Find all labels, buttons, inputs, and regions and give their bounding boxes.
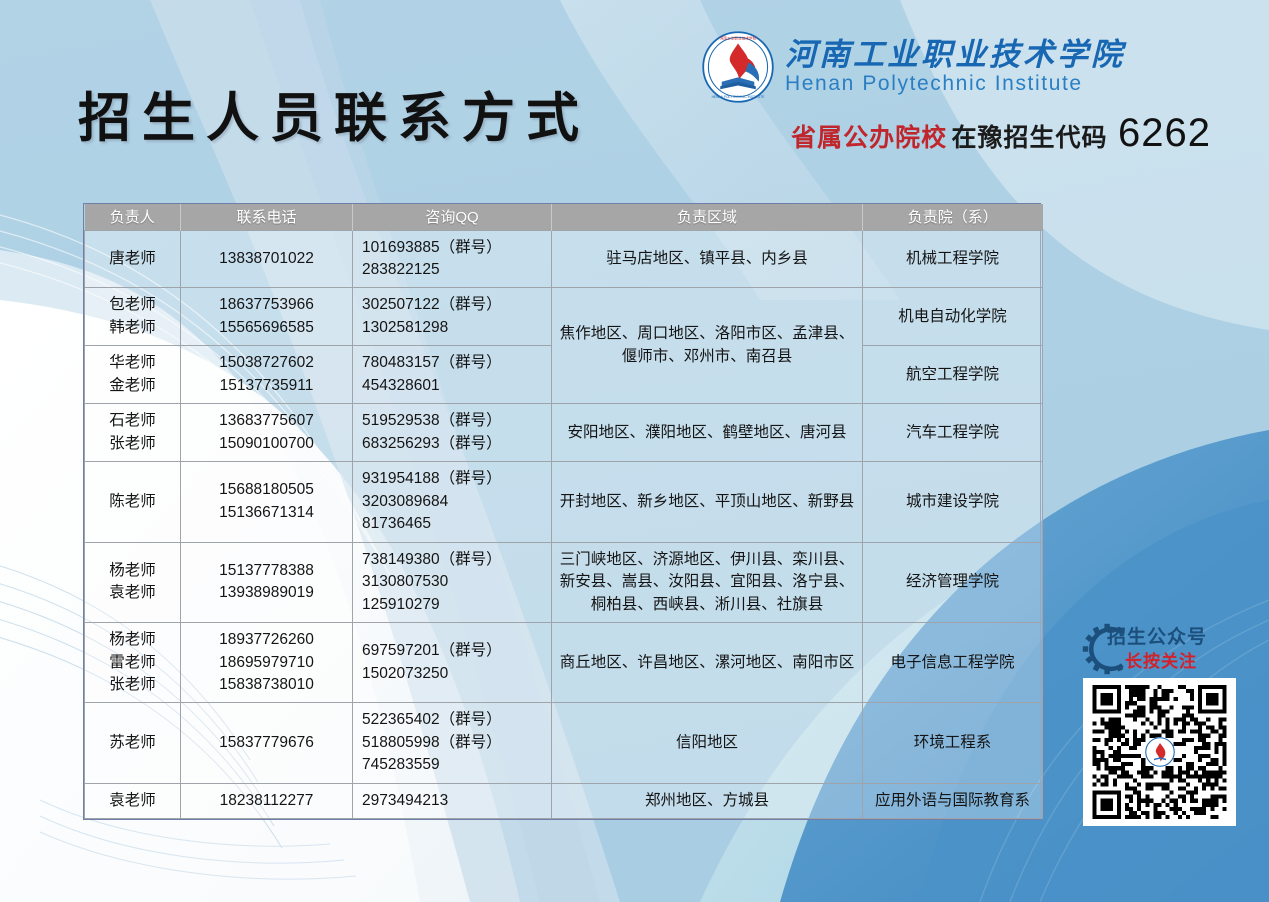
cell-phone: 1368377560715090100700 (181, 404, 353, 462)
cell-region: 安阳地区、濮阳地区、鹤壁地区、唐河县 (552, 404, 863, 462)
cell-region: 信阳地区 (552, 703, 863, 783)
contacts-table-container: 负责人 联系电话 咨询QQ 负责区域 负责院（系） 唐老师13838701022… (83, 203, 1041, 820)
enrollment-code: 6262 (1118, 111, 1211, 155)
cell-qq: 697597201（群号）1502073250 (353, 623, 552, 703)
cell-department: 电子信息工程学院 (863, 623, 1043, 703)
column-header-name: 负责人 (85, 204, 181, 230)
school-emblem-icon: 河南工业职业技术学院 HENAN POLYTECHNIC INSTITUTE (701, 30, 775, 104)
table-row: 杨老师袁老师1513777838813938989019738149380（群号… (85, 542, 1043, 622)
svg-text:河南工业职业技术学院: 河南工业职业技术学院 (720, 36, 757, 41)
svg-text:HENAN POLYTECHNIC INSTITUTE: HENAN POLYTECHNIC INSTITUTE (712, 95, 766, 99)
cell-department: 经济管理学院 (863, 542, 1043, 622)
table-row: 杨老师雷老师张老师1893772626018695979710158387380… (85, 623, 1043, 703)
cell-department: 汽车工程学院 (863, 404, 1043, 462)
qr-label-account: 招生公众号 (1107, 622, 1207, 649)
brand-name-en: Henan Polytechnic Institute (785, 72, 1125, 96)
cell-region: 开封地区、新乡地区、平顶山地区、新野县 (552, 462, 863, 542)
cell-phone: 189377262601869597971015838738010 (181, 623, 353, 703)
cell-region: 商丘地区、许昌地区、漯河地区、南阳市区 (552, 623, 863, 703)
page-header: 招生人员联系方式 河南工业职业技术学院 HENAN POLYTECHNIC IN… (0, 0, 1269, 195)
cell-name: 苏老师 (85, 703, 181, 783)
cell-qq: 101693885（群号）283822125 (353, 230, 552, 288)
brand-tagline: 省属公办院校 在豫招生代码 6262 (701, 113, 1211, 153)
table-row: 苏老师15837779676522365402（群号）518805998（群号）… (85, 703, 1043, 783)
column-header-qq: 咨询QQ (353, 204, 552, 230)
contacts-table: 负责人 联系电话 咨询QQ 负责区域 负责院（系） 唐老师13838701022… (84, 204, 1043, 819)
cell-region: 驻马店地区、镇平县、内乡县 (552, 230, 863, 288)
tagline-code-label: 在豫招生代码 (952, 124, 1108, 152)
cell-department: 应用外语与国际教育系 (863, 783, 1043, 818)
cell-phone: 15837779676 (181, 703, 353, 783)
cell-name: 杨老师袁老师 (85, 542, 181, 622)
cell-region: 焦作地区、周口地区、洛阳市区、孟津县、偃师市、邓州市、南召县 (552, 288, 863, 404)
table-body: 唐老师13838701022101693885（群号）283822125驻马店地… (85, 230, 1043, 819)
column-header-phone: 联系电话 (181, 204, 353, 230)
cell-phone: 1863775396615565696585 (181, 288, 353, 346)
cell-department: 环境工程系 (863, 703, 1043, 783)
qr-heading: 招生公众号 长按关注 (1083, 616, 1243, 678)
cell-name: 包老师韩老师 (85, 288, 181, 346)
qr-block: 招生公众号 长按关注 (1083, 616, 1243, 826)
brand-name-cn: 河南工业职业技术学院 (785, 38, 1125, 73)
cell-name: 石老师张老师 (85, 404, 181, 462)
cell-department: 机电自动化学院 (863, 288, 1043, 346)
cell-phone: 13838701022 (181, 230, 353, 288)
cell-region: 三门峡地区、济源地区、伊川县、栾川县、新安县、嵩县、汝阳县、宜阳县、洛宁县、桐柏… (552, 542, 863, 622)
cell-phone: 1513777838813938989019 (181, 542, 353, 622)
cell-department: 机械工程学院 (863, 230, 1043, 288)
cell-department: 航空工程学院 (863, 346, 1043, 404)
cell-department: 城市建设学院 (863, 462, 1043, 542)
school-emblem-small-icon (1145, 737, 1175, 767)
brand-block: 河南工业职业技术学院 HENAN POLYTECHNIC INSTITUTE 河… (701, 30, 1211, 153)
table-row: 唐老师13838701022101693885（群号）283822125驻马店地… (85, 230, 1043, 288)
table-row: 包老师韩老师1863775396615565696585302507122（群号… (85, 288, 1043, 346)
tagline-public-school: 省属公办院校 (791, 124, 947, 152)
cell-name: 陈老师 (85, 462, 181, 542)
qr-center-emblem (1145, 737, 1175, 767)
cell-qq: 519529538（群号）683256293（群号） (353, 404, 552, 462)
page-title: 招生人员联系方式 (78, 92, 590, 145)
column-header-region: 负责区域 (552, 204, 863, 230)
qr-label-press: 长按关注 (1125, 647, 1197, 672)
cell-name: 华老师金老师 (85, 346, 181, 404)
cell-name: 唐老师 (85, 230, 181, 288)
qr-code-image[interactable] (1083, 678, 1236, 826)
cell-phone: 18238112277 (181, 783, 353, 818)
column-header-department: 负责院（系） (863, 204, 1043, 230)
cell-qq: 738149380（群号）3130807530125910279 (353, 542, 552, 622)
cell-region: 郑州地区、方城县 (552, 783, 863, 818)
table-header-row: 负责人 联系电话 咨询QQ 负责区域 负责院（系） (85, 204, 1043, 230)
cell-name: 杨老师雷老师张老师 (85, 623, 181, 703)
cell-phone: 1568818050515136671314 (181, 462, 353, 542)
cell-qq: 522365402（群号）518805998（群号）745283559 (353, 703, 552, 783)
cell-phone: 1503872760215137735911 (181, 346, 353, 404)
cell-qq: 302507122（群号）1302581298 (353, 288, 552, 346)
cell-qq: 780483157（群号）454328601 (353, 346, 552, 404)
cell-qq: 931954188（群号）320308968481736465 (353, 462, 552, 542)
table-row: 陈老师1568818050515136671314931954188（群号）32… (85, 462, 1043, 542)
cell-qq: 2973494213 (353, 783, 552, 818)
table-row: 石老师张老师1368377560715090100700519529538（群号… (85, 404, 1043, 462)
cell-name: 袁老师 (85, 783, 181, 818)
table-row: 袁老师182381122772973494213郑州地区、方城县应用外语与国际教… (85, 783, 1043, 818)
